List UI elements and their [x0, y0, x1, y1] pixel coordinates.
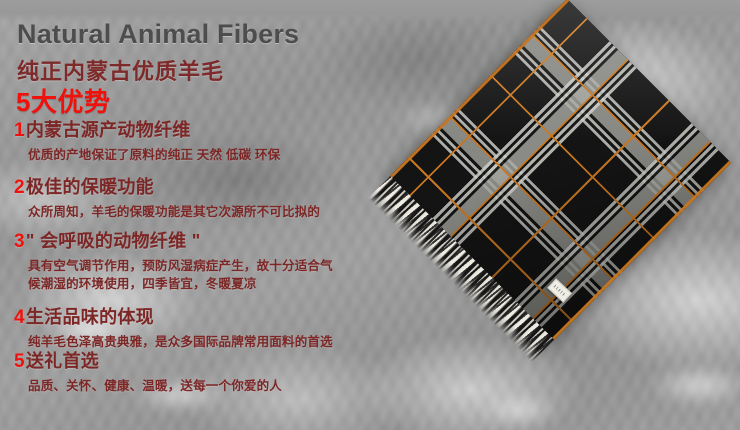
advantage-4-line-1: 纯羊毛色泽高贵典雅，是众多国际品牌常用面料的首选 — [28, 335, 333, 349]
advantage-2-heading: 2极佳的保暖功能 — [14, 177, 320, 199]
advantage-4-title: 生活品味的体现 — [26, 307, 154, 327]
product-image — [392, 22, 740, 382]
advantage-item-1: 1内蒙古源产动物纤维 优质的产地保证了原料的纯正 天然 低碳 环保 — [14, 120, 280, 164]
advantage-5-title: 送礼首选 — [26, 351, 99, 371]
advantage-3-line-1: 具有空气调节作用，预防风湿病症产生，故十分适合气 — [28, 257, 333, 275]
advantage-3-number: 3 — [14, 231, 25, 252]
advantage-4-body: 纯羊毛色泽高贵典雅，是众多国际品牌常用面料的首选 — [28, 333, 333, 351]
page-title-english: Natural Animal Fibers — [17, 19, 299, 50]
advantage-5-body: 品质、关怀、健康、温暖，送每一个你爱的人 — [28, 377, 282, 395]
advantage-3-heading: 3" 会呼吸的动物纤维 " — [14, 231, 333, 253]
advantages-heading: 5大优势 — [16, 82, 110, 119]
advantage-1-number: 1 — [14, 120, 25, 141]
advantage-5-line-1: 品质、关怀、健康、温暖，送每一个你爱的人 — [28, 379, 282, 393]
advantage-1-title: 内蒙古源产动物纤维 — [26, 120, 191, 140]
copy-column: Natural Animal Fibers 纯正内蒙古优质羊毛 5大优势 1内蒙… — [0, 0, 420, 430]
advantage-1-line-1: 优质的产地保证了原料的纯正 天然 低碳 环保 — [28, 148, 280, 162]
advantage-5-heading: 5送礼首选 — [14, 351, 282, 373]
advantage-4-number: 4 — [14, 307, 25, 328]
advantage-3-body: 具有空气调节作用，预防风湿病症产生，故十分适合气 候潮湿的环境使用，四季皆宜，冬… — [28, 257, 333, 293]
advantage-2-line-1: 众所周知，羊毛的保暖功能是其它次源所不可比拟的 — [28, 205, 320, 219]
advantage-3-line-2: 候潮湿的环境使用，四季皆宜，冬暖夏凉 — [28, 275, 333, 293]
plaid-scarf — [389, 0, 731, 341]
advantage-2-body: 众所周知，羊毛的保暖功能是其它次源所不可比拟的 — [28, 203, 320, 221]
advantage-item-2: 2极佳的保暖功能 众所周知，羊毛的保暖功能是其它次源所不可比拟的 — [14, 177, 320, 221]
advantage-4-heading: 4生活品味的体现 — [14, 307, 333, 329]
advantage-5-number: 5 — [14, 351, 25, 372]
advantage-2-title: 极佳的保暖功能 — [26, 177, 154, 197]
advantage-1-heading: 1内蒙古源产动物纤维 — [14, 120, 280, 142]
advantage-item-3: 3" 会呼吸的动物纤维 " 具有空气调节作用，预防风湿病症产生，故十分适合气 候… — [14, 231, 333, 293]
advantage-item-4: 4生活品味的体现 纯羊毛色泽高贵典雅，是众多国际品牌常用面料的首选 — [14, 307, 333, 351]
advantage-item-5: 5送礼首选 品质、关怀、健康、温暖，送每一个你爱的人 — [14, 351, 282, 395]
advantage-1-body: 优质的产地保证了原料的纯正 天然 低碳 环保 — [28, 146, 280, 164]
advantage-2-number: 2 — [14, 177, 25, 198]
product-banner: Natural Animal Fibers 纯正内蒙古优质羊毛 5大优势 1内蒙… — [0, 0, 740, 430]
advantage-3-title: " 会呼吸的动物纤维 " — [26, 231, 201, 251]
